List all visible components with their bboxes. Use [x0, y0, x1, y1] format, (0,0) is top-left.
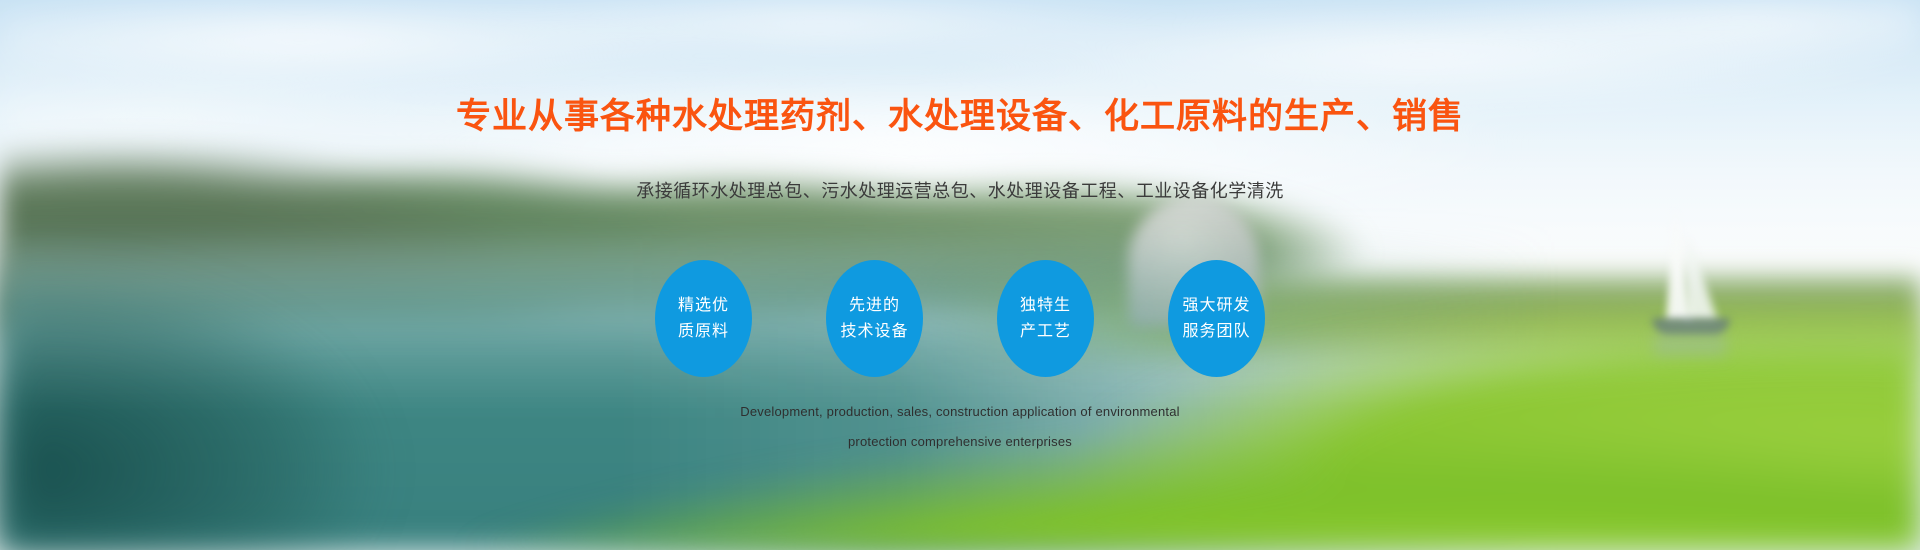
feature-circle-2[interactable]: 先进的 技术设备 [826, 260, 923, 377]
feature-circle-1-line2: 质原料 [678, 319, 729, 345]
feature-circle-3[interactable]: 独特生 产工艺 [997, 260, 1094, 377]
feature-circle-4-line2: 服务团队 [1182, 319, 1250, 345]
banner-headline: 专业从事各种水处理药剂、水处理设备、化工原料的生产、销售 [0, 88, 1920, 139]
feature-circle-1-line1: 精选优 [678, 293, 729, 319]
banner-content: 专业从事各种水处理药剂、水处理设备、化工原料的生产、销售 承接循环水处理总包、污… [0, 0, 1920, 550]
feature-circle-4-line1: 强大研发 [1182, 293, 1250, 319]
feature-circle-4[interactable]: 强大研发 服务团队 [1168, 260, 1265, 377]
feature-circle-3-line2: 产工艺 [1020, 319, 1071, 345]
banner-english-line-2: protection comprehensive enterprises [0, 434, 1920, 449]
banner-english-line-1: Development, production, sales, construc… [0, 404, 1920, 419]
feature-circle-1[interactable]: 精选优 质原料 [655, 260, 752, 377]
hero-banner: 专业从事各种水处理药剂、水处理设备、化工原料的生产、销售 承接循环水处理总包、污… [0, 0, 1920, 550]
feature-circle-2-line2: 技术设备 [840, 319, 908, 345]
feature-circle-2-line1: 先进的 [849, 293, 900, 319]
feature-circle-3-line1: 独特生 [1020, 293, 1071, 319]
feature-circle-row: 精选优 质原料 先进的 技术设备 独特生 产工艺 强大研发 服务团队 [0, 260, 1920, 377]
banner-subheadline: 承接循环水处理总包、污水处理运营总包、水处理设备工程、工业设备化学清洗 [0, 177, 1920, 203]
